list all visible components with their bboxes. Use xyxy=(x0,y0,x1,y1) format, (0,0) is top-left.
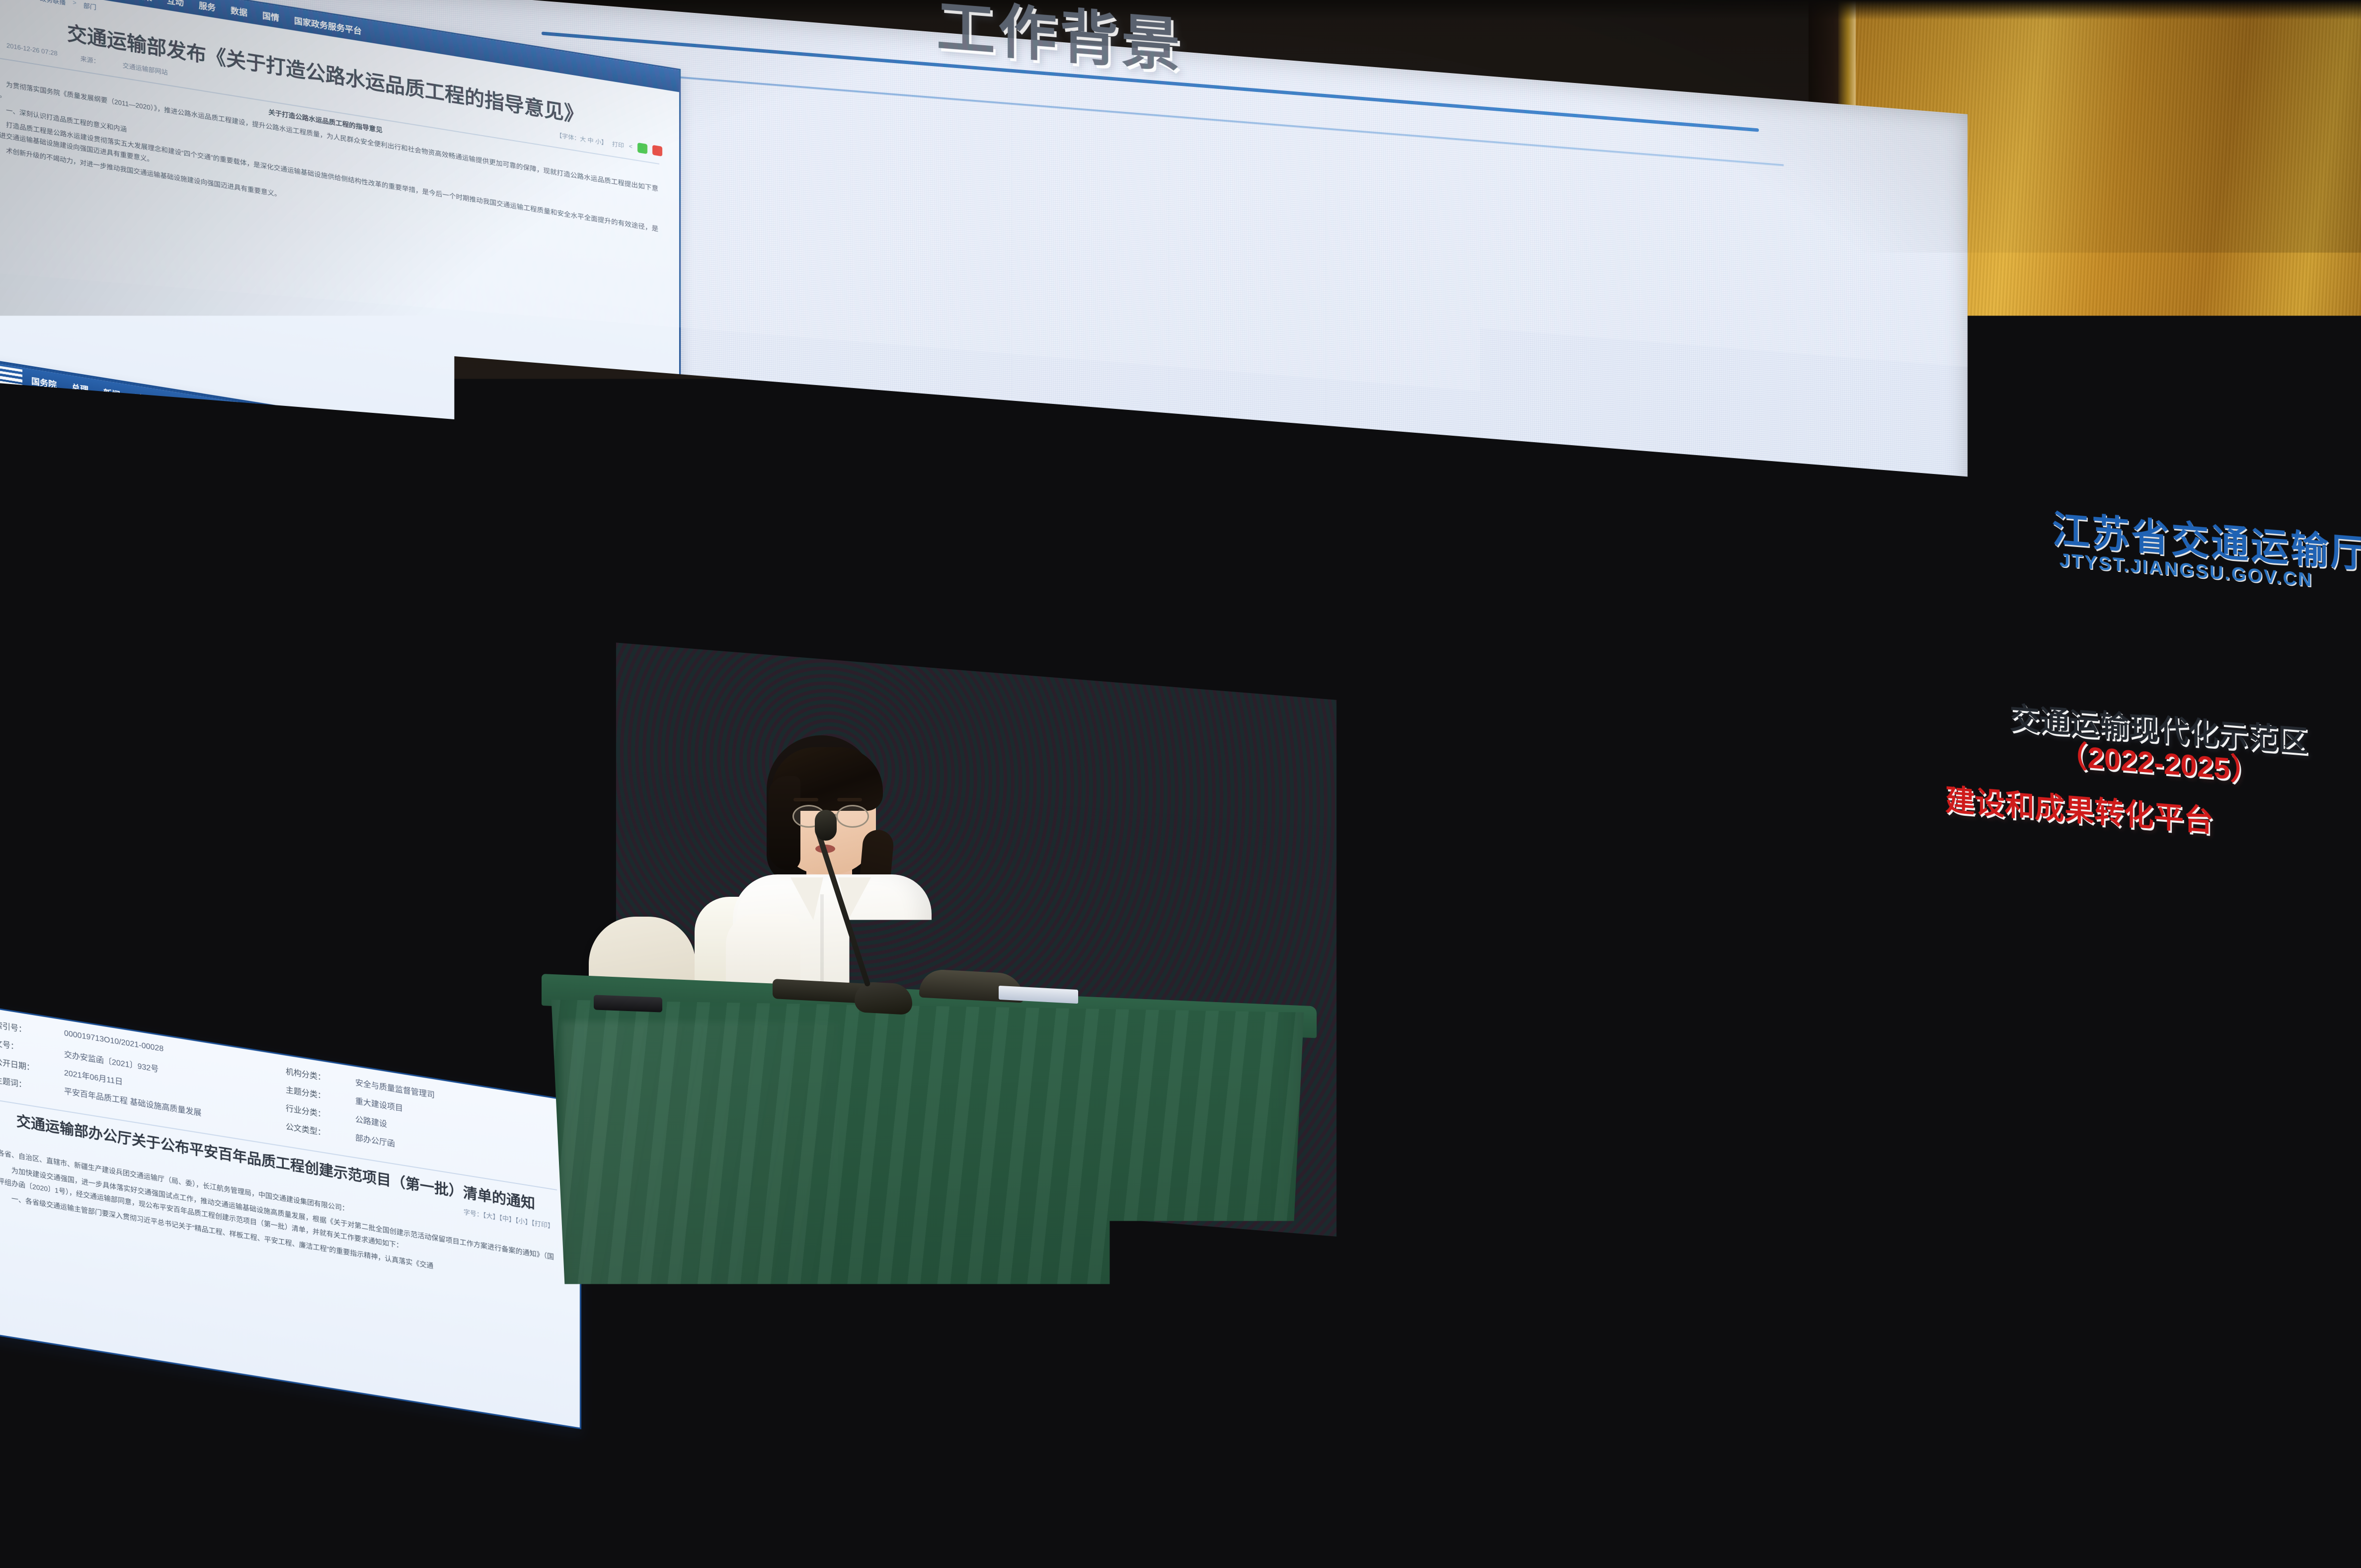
nav-item[interactable]: 政策 xyxy=(135,0,152,3)
nav-item[interactable]: 互动交流 xyxy=(73,789,99,804)
arrow-up-head xyxy=(1669,711,1744,772)
breadcrumb-item[interactable]: 部门 xyxy=(83,0,96,11)
field-key: 文号： xyxy=(0,1036,64,1059)
microphone-head-icon xyxy=(815,810,837,841)
field-key: 索引号： xyxy=(0,1018,64,1041)
annotation-bottom-caption: 部省市级创建示范 （品质工程/平安百年品质工程） xyxy=(1414,1074,1939,1198)
screenshot-panel-2: 国务院 总理 新闻 政策 互动 服务 数据 国情 首页> 新闻> 政务联播> 部… xyxy=(0,358,447,802)
breadcrumb-sep-icon: > xyxy=(0,389,2,399)
breadcrumb-sep-icon: > xyxy=(29,0,33,1)
phone-on-desk xyxy=(594,995,662,1012)
gov-logo-icon xyxy=(0,362,22,388)
breadcrumb-item[interactable]: 政务联播 xyxy=(40,395,66,409)
panel2-frame: 国务院 总理 新闻 政策 互动 服务 数据 国情 首页> 新闻> 政务联播> 部… xyxy=(0,358,447,802)
nav-item[interactable]: 互动 xyxy=(167,0,184,8)
wechat-share-icon[interactable] xyxy=(637,143,647,154)
slide-title: 工作背景 xyxy=(937,0,1183,83)
arrow-up-shaft xyxy=(1691,763,1722,865)
nav-item[interactable]: 交通资讯 xyxy=(0,775,8,790)
field-key: 公开日期： xyxy=(0,1055,64,1078)
annotation-transport-power-pilot: 交通强国试点 （2020-2022） xyxy=(1632,614,1861,708)
nav-item[interactable]: 国情 xyxy=(262,8,279,23)
arrow-down-icon xyxy=(1853,741,1913,880)
annotation-construction-content: 建设内容和依托 xyxy=(1240,670,1490,730)
breadcrumb-item[interactable]: 新闻 xyxy=(9,391,22,402)
presenter-eyebrow-left xyxy=(793,798,818,801)
article-source-label: 来源： xyxy=(80,452,100,465)
nav-item[interactable]: 政府信息公开 xyxy=(21,781,60,798)
nav-item[interactable]: 数据 xyxy=(231,3,247,18)
nav-item[interactable]: 新闻 xyxy=(103,385,120,400)
share-icon[interactable]: < xyxy=(395,504,399,512)
nav-item[interactable]: 特色专栏 xyxy=(189,808,215,823)
arrow-down-head xyxy=(1853,826,1913,880)
weibo-share-icon[interactable] xyxy=(419,506,429,518)
desk-highlight xyxy=(561,1021,840,1399)
presenter xyxy=(723,730,991,1009)
nav-item[interactable]: 政策 xyxy=(135,391,152,405)
annotation-pinzhi-project: 品质工程 （2017—2020） xyxy=(954,471,1250,584)
arrow-down-shaft xyxy=(1870,742,1896,831)
red-flag-icon xyxy=(228,814,239,827)
share-icon[interactable]: < xyxy=(629,143,632,150)
nav-item[interactable]: 政策法规 xyxy=(151,802,176,817)
nav-item[interactable]: 国情 xyxy=(262,411,279,426)
nav-item[interactable]: 数据 xyxy=(231,405,247,420)
nav-item[interactable]: 办事服务 xyxy=(112,796,138,811)
breadcrumb-item[interactable]: 政务联播 xyxy=(40,0,66,7)
laptop[interactable]: ASUS xyxy=(1033,889,1182,1014)
scene-root: 工作背景 载体： 示范： 国务院 总理 新闻 政策 互动 服务 数据 国 xyxy=(0,0,2361,1568)
presenter-eyebrow-right xyxy=(837,798,862,801)
nav-item[interactable]: 服务 xyxy=(199,400,216,415)
field-value: 2021年06月11日 xyxy=(64,1066,123,1087)
breadcrumb-sep-icon: > xyxy=(73,0,77,8)
field-value: 重大建设项目 xyxy=(355,1094,403,1113)
presenter-collar-left xyxy=(790,877,823,920)
print-label[interactable]: 打印 xyxy=(612,139,624,150)
print-label[interactable]: 打印 xyxy=(379,501,391,511)
teacup xyxy=(1220,922,1259,985)
wechat-share-icon[interactable] xyxy=(404,504,414,516)
presenter-desk xyxy=(542,974,1317,1436)
arrow-up-icon xyxy=(1669,711,1744,866)
carpet-right-shadow xyxy=(1938,984,2361,1568)
glasses-lens-right xyxy=(836,805,869,828)
teacup-knob xyxy=(1234,903,1244,914)
breadcrumb-sep-icon: > xyxy=(73,401,77,411)
article-source-label: 来源： xyxy=(80,53,100,66)
nav-item[interactable]: 互动 xyxy=(167,395,184,410)
breadcrumb-sep-icon: > xyxy=(29,394,33,404)
breadcrumb-item[interactable]: 部门 xyxy=(83,402,96,414)
nav-item[interactable]: 国务院 xyxy=(31,374,57,390)
nav-item[interactable]: 服务 xyxy=(199,0,216,13)
weibo-share-icon[interactable] xyxy=(652,145,662,157)
nav-item[interactable]: 总理 xyxy=(72,380,88,395)
